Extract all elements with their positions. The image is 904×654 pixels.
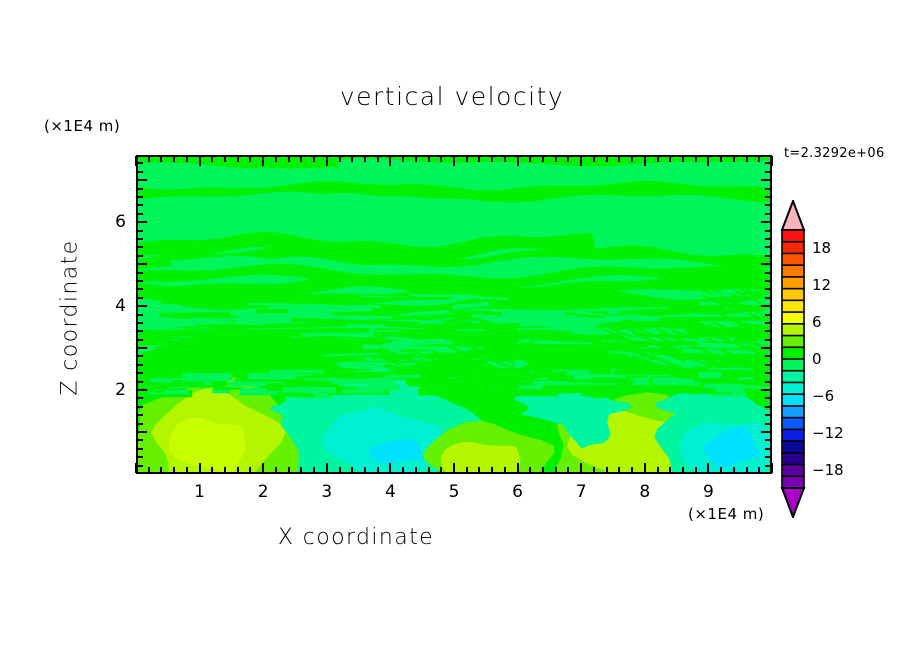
- x-tick-label-4: 4: [385, 482, 396, 502]
- x-tick-label-2: 2: [258, 482, 269, 502]
- x-tick-label-5: 5: [449, 482, 460, 502]
- colorbar-swatches: [778, 200, 812, 518]
- page-title: vertical velocity: [0, 82, 904, 111]
- colorbar: [778, 200, 812, 518]
- colorbar-tick-label-12: 12: [812, 276, 831, 294]
- y-axis-title: Z coordinate: [58, 188, 83, 448]
- y-axis-unit-label: (×1E4 m): [44, 117, 120, 135]
- colorbar-tick-label-18: 18: [812, 239, 831, 257]
- y-tick-label-4: 4: [96, 296, 126, 316]
- x-tick-label-1: 1: [194, 482, 205, 502]
- colorbar-tick-label--18: −18: [812, 461, 844, 479]
- timestamp-annotation: t=2.3292e+06: [784, 146, 885, 161]
- x-tick-label-6: 6: [512, 482, 523, 502]
- contour-field: [136, 155, 772, 474]
- contour-plot-area: [136, 155, 772, 474]
- x-tick-label-8: 8: [639, 482, 650, 502]
- colorbar-tick-label-6: 6: [812, 313, 822, 331]
- x-tick-label-7: 7: [576, 482, 587, 502]
- colorbar-tick-label--12: −12: [812, 424, 844, 442]
- x-axis-title: X coordinate: [0, 525, 712, 550]
- y-tick-label-6: 6: [96, 212, 126, 232]
- x-tick-label-3: 3: [321, 482, 332, 502]
- x-axis-unit-label: (×1E4 m): [688, 505, 764, 523]
- figure-root: vertical velocity (×1E4 m) (×1E4 m) t=2.…: [0, 0, 904, 654]
- colorbar-tick-label-0: 0: [812, 350, 822, 368]
- y-tick-label-2: 2: [96, 380, 126, 400]
- x-tick-label-9: 9: [703, 482, 714, 502]
- colorbar-tick-label--6: −6: [812, 387, 834, 405]
